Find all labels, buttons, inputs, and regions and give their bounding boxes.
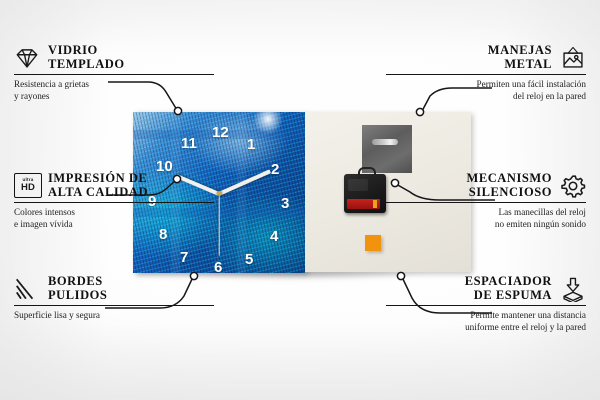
numeral-12: 12	[212, 125, 229, 140]
ultra-hd-main-text: HD	[21, 183, 35, 193]
battery	[347, 199, 380, 209]
numeral-11: 11	[181, 136, 197, 151]
callout-head: MANEJAS METAL	[386, 44, 586, 71]
numeral-4: 4	[270, 229, 278, 244]
metal-hanger-plate	[362, 125, 412, 173]
callout-rule	[14, 74, 214, 75]
numeral-6: 6	[214, 260, 222, 273]
mechanism-label	[348, 179, 368, 191]
callout-subtitle: Permiten una fácil instalación del reloj…	[386, 79, 586, 101]
gear-icon	[560, 173, 586, 199]
battery-terminal	[373, 200, 377, 208]
picture-hanger-icon	[560, 45, 586, 71]
callout-vidrio-templado[interactable]: VIDRIO TEMPLADO Resistencia a grietas y …	[14, 44, 214, 102]
numeral-7: 7	[180, 250, 188, 265]
foam-spacer-icon	[560, 276, 586, 302]
callout-head: VIDRIO TEMPLADO	[14, 44, 214, 71]
callout-head: BORDES PULIDOS	[14, 275, 214, 302]
callout-rule	[14, 202, 214, 203]
callout-rule	[386, 202, 586, 203]
callout-rule	[386, 74, 586, 75]
hands-center-cap	[217, 191, 222, 196]
callout-title: VIDRIO TEMPLADO	[48, 44, 125, 71]
numeral-5: 5	[245, 252, 253, 267]
glass-sparkle	[251, 112, 285, 136]
numeral-2: 2	[271, 162, 279, 177]
callout-subtitle: Las manecillas del reloj no emiten ningú…	[386, 207, 586, 229]
callout-title: BORDES PULIDOS	[48, 275, 107, 302]
ultra-hd-icon: ultra HD	[14, 173, 40, 199]
infographic-canvas: 12 1 2 3 4 5 6 7 8 9 10 11	[0, 0, 600, 400]
callout-rule	[14, 305, 214, 306]
diamond-icon	[14, 45, 40, 71]
callout-impresion-alta-calidad[interactable]: ultra HD IMPRESIÓN DE ALTA CALIDAD Color…	[14, 172, 214, 230]
foam-spacer	[365, 235, 381, 251]
callout-title: MECANISMO SILENCIOSO	[466, 172, 552, 199]
hanger-slot	[372, 139, 398, 145]
ultra-hd-badge: ultra HD	[14, 173, 42, 198]
callout-bordes-pulidos[interactable]: BORDES PULIDOS Superficie lisa y segura	[14, 275, 214, 322]
callout-title: IMPRESIÓN DE ALTA CALIDAD	[48, 172, 148, 199]
callout-subtitle: Colores intensos e imagen vívida	[14, 207, 214, 229]
callout-head: ultra HD IMPRESIÓN DE ALTA CALIDAD	[14, 172, 214, 199]
second-hand	[218, 194, 219, 256]
glass-band-right	[237, 112, 246, 273]
quartz-mechanism-box	[344, 174, 386, 213]
callout-subtitle: Resistencia a grietas y rayones	[14, 79, 214, 101]
callout-espaciador-espuma[interactable]: ESPACIADOR DE ESPUMA Permite mantener un…	[386, 275, 586, 333]
callout-head: MECANISMO SILENCIOSO	[386, 172, 586, 199]
callout-mecanismo-silencioso[interactable]: MECANISMO SILENCIOSO Las manecillas del …	[386, 172, 586, 230]
callout-title: ESPACIADOR DE ESPUMA	[465, 275, 552, 302]
callout-title: MANEJAS METAL	[488, 44, 552, 71]
numeral-3: 3	[281, 196, 289, 211]
callout-rule	[386, 305, 586, 306]
callout-head: ESPACIADOR DE ESPUMA	[386, 275, 586, 302]
callout-manejas-metal[interactable]: MANEJAS METAL Permiten una fácil instala…	[386, 44, 586, 102]
callout-subtitle: Permite mantener una distancia uniforme …	[386, 310, 586, 332]
polished-edges-icon	[14, 276, 40, 302]
numeral-1: 1	[247, 137, 255, 152]
mechanism-hanging-loop	[358, 167, 376, 179]
callout-subtitle: Superficie lisa y segura	[14, 310, 214, 321]
